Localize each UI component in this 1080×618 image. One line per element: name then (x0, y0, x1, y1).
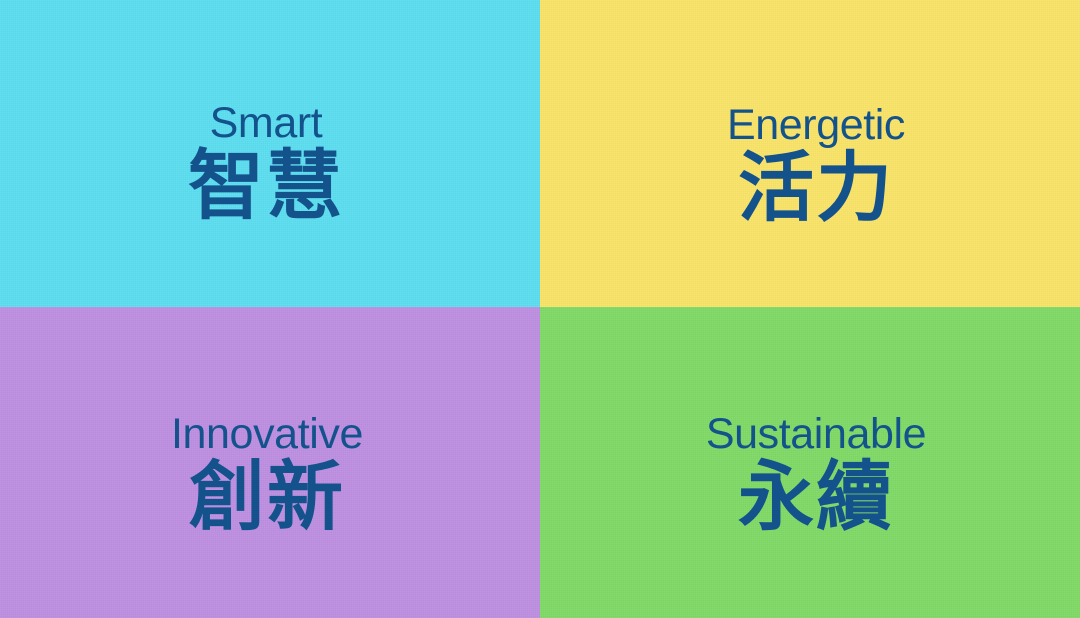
energetic-english-label: Energetic (727, 104, 905, 147)
energetic-text-stack: Energetic 活力 (727, 104, 905, 227)
innovative-chinese-label: 創新 (189, 460, 345, 536)
value-quadrant-grid: Smart 智慧 Energetic 活力 Innovative 創新 Sust… (0, 0, 1080, 618)
sustainable-text-stack: Sustainable 永續 (706, 413, 926, 536)
smart-english-label: Smart (210, 102, 323, 145)
sustainable-english-label: Sustainable (706, 413, 926, 456)
quadrant-sustainable: Sustainable 永續 (540, 307, 1080, 618)
smart-chinese-label: 智慧 (188, 149, 344, 225)
innovative-english-label: Innovative (171, 413, 363, 456)
smart-text-stack: Smart 智慧 (188, 102, 344, 225)
quadrant-energetic: Energetic 活力 (540, 0, 1080, 307)
quadrant-innovative: Innovative 創新 (0, 307, 540, 618)
quadrant-smart: Smart 智慧 (0, 0, 540, 307)
innovative-text-stack: Innovative 創新 (171, 413, 363, 536)
energetic-chinese-label: 活力 (738, 151, 894, 227)
sustainable-chinese-label: 永續 (738, 460, 894, 536)
